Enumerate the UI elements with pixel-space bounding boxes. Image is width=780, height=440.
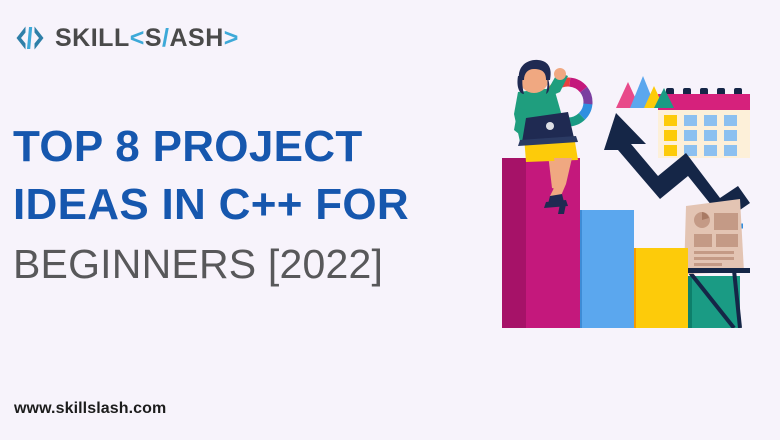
logo-text-ash: ASH: [169, 24, 223, 52]
code-brackets-icon: [14, 24, 46, 52]
headline-line-3: BEGINNERS [2022]: [13, 234, 483, 294]
bar-chart-bar-pink: [502, 158, 580, 328]
site-url[interactable]: www.skillslash.com: [14, 400, 166, 418]
bar-chart-bar-yellow: [626, 248, 688, 328]
logo-text-skill: SKILL: [55, 24, 130, 52]
banner-canvas: SKILL<S/ASH> TOP 8 PROJECT IDEAS IN C++ …: [0, 0, 780, 440]
calendar-icon: [658, 88, 750, 158]
page-title: TOP 8 PROJECT IDEAS IN C++ FOR BEGINNERS…: [13, 118, 483, 294]
logo-bracket-close: >: [224, 24, 239, 52]
bar-chart-bar-blue: [572, 210, 634, 328]
mountain-chart-icon: [616, 76, 674, 108]
logo-bracket-open: <: [130, 24, 145, 52]
business-growth-illustration: [488, 58, 780, 328]
brand-logo[interactable]: SKILL<S/ASH>: [14, 22, 239, 54]
brand-logo-text: SKILL<S/ASH>: [55, 26, 239, 51]
headline-line-2: IDEAS IN C++ FOR: [13, 176, 483, 234]
logo-text-s: S: [145, 24, 162, 52]
headline-line-1: TOP 8 PROJECT: [13, 118, 483, 176]
